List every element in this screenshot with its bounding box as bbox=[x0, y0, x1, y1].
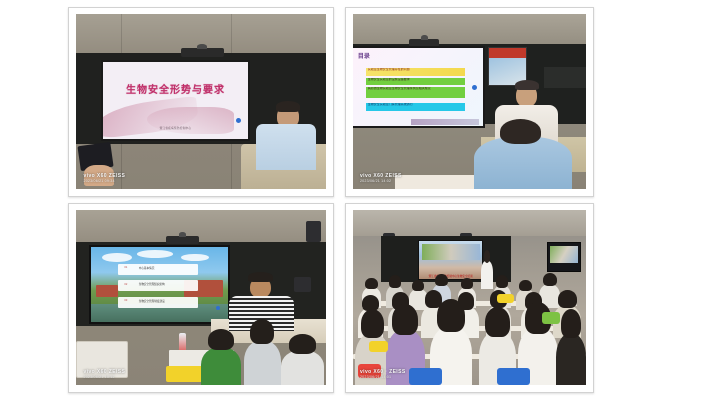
projection-screen: 浙江省疾病预防控制中心生物安全培训 bbox=[418, 240, 483, 281]
chair-green bbox=[542, 312, 561, 324]
slide-panel-2-text: 生物安全管理组织架构 bbox=[139, 282, 165, 286]
projection-screen: 目录 ✓ 实验室生物安全管理存在的问题 生物安全实验室的设施设备要求 病原微生物… bbox=[353, 46, 485, 129]
slide-panel-3-text: 生物安全管理制度建设 bbox=[139, 299, 165, 303]
student bbox=[201, 347, 241, 386]
photo-card-top-left[interactable]: 生物安全形势与要求 浙江省疾病预防控制中心 vivo X60 ZEISS 202… bbox=[68, 7, 334, 197]
presenter bbox=[481, 261, 493, 289]
cloud bbox=[181, 254, 209, 262]
photo-image-bottom-left: 01 中心基本情况 02 生物安全管理组织架构 03 生物安全管理制度建设 bbox=[76, 210, 326, 385]
wall-speaker bbox=[306, 221, 321, 242]
slide-title: 目录 bbox=[358, 51, 370, 60]
attendee bbox=[556, 333, 586, 386]
slide-panel-2: 02 生物安全管理组织架构 bbox=[118, 280, 198, 291]
chair-yellow bbox=[497, 294, 513, 303]
student bbox=[281, 350, 324, 385]
chair-red bbox=[358, 364, 381, 378]
slide-badge-dot bbox=[472, 85, 477, 90]
slide-bullet-2-text: 生物安全实验室的设施设备要求 bbox=[368, 78, 410, 81]
page-root: 生物安全形势与要求 浙江省疾病预防控制中心 vivo X60 ZEISS 202… bbox=[0, 0, 720, 405]
photo-card-bottom-left[interactable]: 01 中心基本情况 02 生物安全管理组织架构 03 生物安全管理制度建设 bbox=[68, 203, 334, 393]
pip-header bbox=[489, 48, 526, 58]
side-monitor-content bbox=[550, 246, 579, 263]
slide-subtitle: 浙江省疾病预防控制中心 bbox=[103, 126, 248, 130]
slide-footer-band bbox=[411, 119, 479, 125]
photo-image-top-right: 目录 ✓ 实验室生物安全管理存在的问题 生物安全实验室的设施设备要求 病原微生物… bbox=[353, 14, 586, 189]
equipment-cart bbox=[76, 341, 128, 378]
foreground-attendee bbox=[474, 137, 572, 190]
side-monitor bbox=[547, 242, 582, 272]
ceiling-camera-icon bbox=[166, 236, 199, 244]
slide-panel-1: 01 中心基本情况 bbox=[118, 264, 198, 275]
wall-speaker bbox=[294, 277, 312, 293]
slide-badge-dot bbox=[236, 118, 241, 123]
cloud bbox=[137, 250, 173, 258]
slide-bullet-3: 病原微生物实验室生物安全管理条例及相关规定 bbox=[366, 87, 465, 98]
slide-image-strip bbox=[422, 244, 480, 260]
photo-card-bottom-right[interactable]: 浙江省疾病预防控制中心生物安全培训 bbox=[345, 203, 594, 393]
chair-blue bbox=[409, 368, 442, 386]
slide-bullet-3-text: 病原微生物实验室生物安全管理条例及相关规定 bbox=[368, 87, 431, 90]
projection-screen: 01 中心基本情况 02 生物安全管理组织架构 03 生物安全管理制度建设 bbox=[89, 245, 231, 324]
slide-badge-dot bbox=[216, 306, 220, 310]
photo-grid: 生物安全形势与要求 浙江省疾病预防控制中心 vivo X60 ZEISS 202… bbox=[68, 7, 594, 393]
projection-screen: 生物安全形势与要求 浙江省疾病预防控制中心 bbox=[101, 60, 250, 141]
slide-bullet-4-text: 生物安全实验室门禁管理系统通行 bbox=[368, 103, 413, 106]
slide-bullet-4: 生物安全实验室门禁管理系统通行 bbox=[366, 103, 465, 111]
hand bbox=[84, 165, 114, 186]
cloud bbox=[102, 253, 132, 262]
building bbox=[96, 285, 118, 297]
chair-yellow bbox=[369, 341, 388, 352]
slide-panel-3-num: 03 bbox=[124, 299, 127, 302]
slide-bullet-1: ✓ 实验室生物安全管理存在的问题 bbox=[366, 68, 465, 76]
speaker-head bbox=[250, 277, 271, 298]
speaker-body bbox=[256, 124, 316, 170]
slide-bullet-1-text: 实验室生物安全管理存在的问题 bbox=[368, 68, 410, 71]
slide-bullet-2: 生物安全实验室的设施设备要求 bbox=[366, 78, 465, 85]
ceiling-camera-icon bbox=[181, 48, 224, 57]
slide-panel-2-num: 02 bbox=[124, 283, 127, 286]
wall-panel bbox=[544, 67, 586, 88]
slide-panel-1-text: 中心基本情况 bbox=[139, 266, 155, 270]
student bbox=[244, 340, 282, 386]
slide-panel-3: 03 生物安全管理制度建设 bbox=[118, 297, 198, 308]
slide-panel-1-num: 01 bbox=[124, 266, 127, 269]
chair-blue bbox=[497, 368, 530, 386]
photo-image-top-left: 生物安全形势与要求 浙江省疾病预防控制中心 vivo X60 ZEISS 202… bbox=[76, 14, 326, 189]
photo-image-bottom-right: 浙江省疾病预防控制中心生物安全培训 bbox=[353, 210, 586, 385]
slide-title: 生物安全形势与要求 bbox=[103, 81, 248, 96]
photo-card-top-right[interactable]: 目录 ✓ 实验室生物安全管理存在的问题 生物安全实验室的设施设备要求 病原微生物… bbox=[345, 7, 594, 197]
ceiling bbox=[353, 14, 586, 45]
slide-banner-text: 浙江省疾病预防控制中心生物安全培训 bbox=[419, 274, 482, 278]
ceiling bbox=[76, 210, 326, 243]
speaker-head bbox=[516, 84, 537, 107]
